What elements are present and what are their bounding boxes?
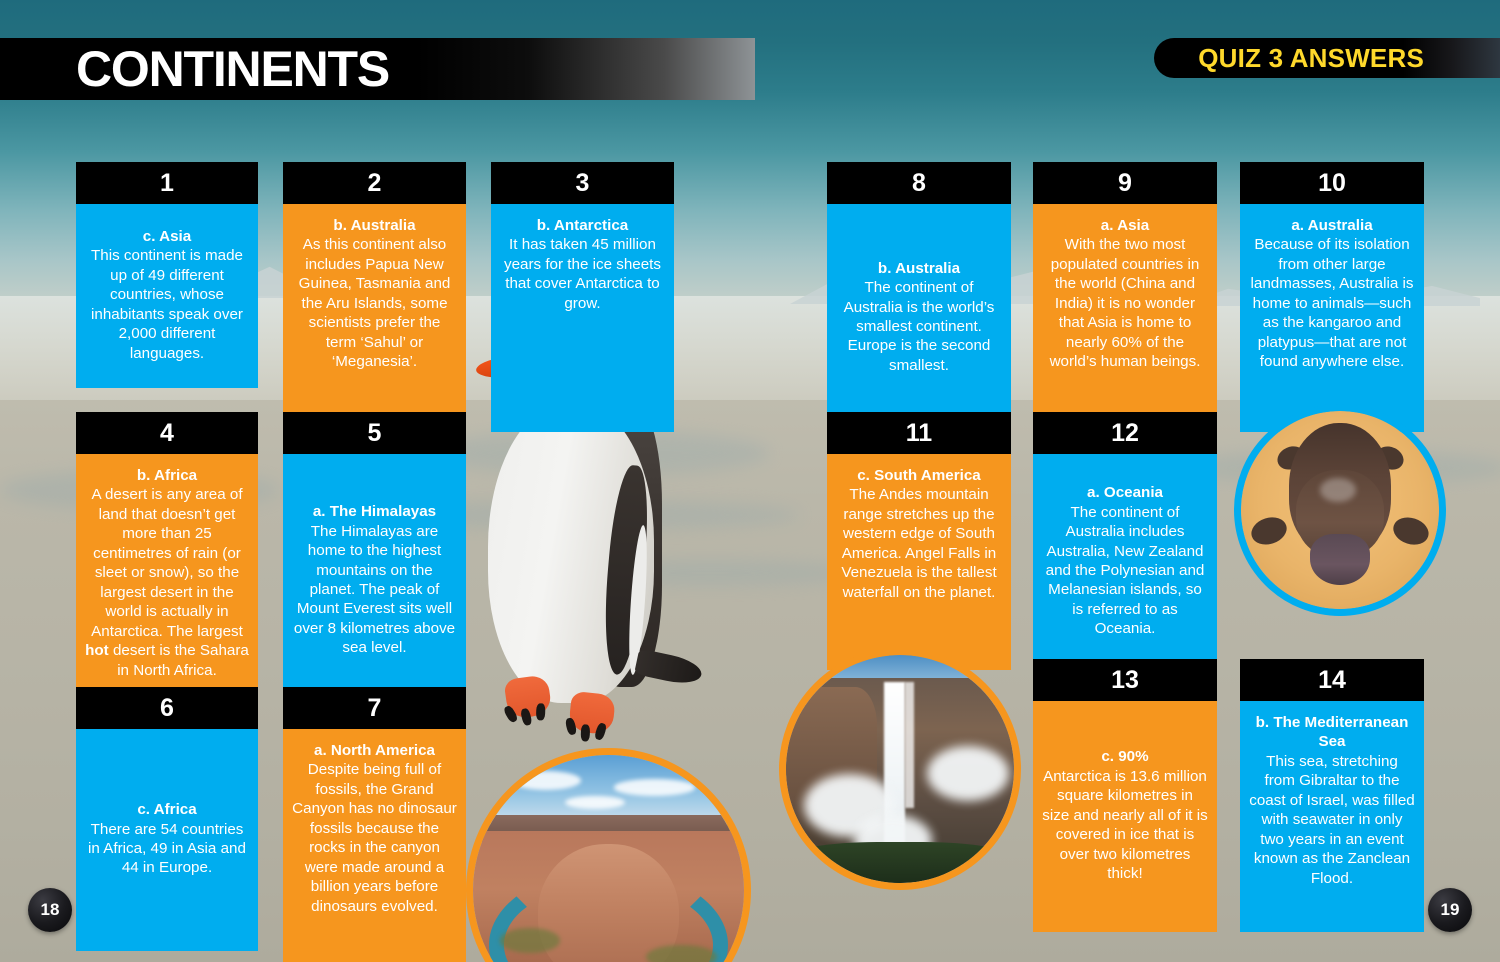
answer-card-body: c. Africa There are 54 countries in Afri… [76,729,258,951]
answer-detail: As this continent also includes Papua Ne… [292,235,457,371]
answer-detail: It has taken 45 million years for the ic… [500,235,665,313]
answer-card-number-badge: 3 [491,162,674,204]
answer-card-number-badge: 14 [1240,659,1424,701]
answer-label: b. Antarctica [500,216,665,235]
answer-label: b. Australia [292,216,457,235]
answer-card-number: 3 [576,171,590,196]
answer-card-number: 8 [912,171,926,196]
answer-card-5: 5 a. The Himalayas The Himalayas are hom… [283,412,466,708]
answer-label: a. Asia [1042,216,1208,235]
platypus-photo-inner [1241,411,1439,609]
answer-card-body: b. Australia The continent of Australia … [827,204,1011,432]
answer-card-number: 9 [1118,171,1132,196]
answer-card-7: 7 a. North America Despite being full of… [283,687,466,962]
answer-card-number-badge: 2 [283,162,466,204]
answer-card-body: a. Asia With the two most populated coun… [1033,204,1217,432]
answer-card-14: 14 b. The Mediterranean Sea This sea, st… [1240,659,1424,932]
answer-card-number-badge: 8 [827,162,1011,204]
answer-card-1: 1 c. Asia This continent is made up of 4… [76,162,258,388]
answer-label: a. The Himalayas [292,502,457,521]
answer-card-11: 11 c. South America The Andes mountain r… [827,412,1011,670]
answer-detail: Despite being full of fossils, the Grand… [292,760,457,916]
answer-card-number-badge: 1 [76,162,258,204]
answer-card-number-badge: 11 [827,412,1011,454]
answer-card-number: 13 [1111,668,1139,693]
answer-card-9: 9 a. Asia With the two most populated co… [1033,162,1217,432]
answer-label: b. Africa [85,466,249,485]
answer-card-number: 1 [160,171,174,196]
answer-card-body: a. Australia Because of its isolation fr… [1240,204,1424,432]
answer-label: a. Oceania [1042,483,1208,502]
answer-card-10: 10 a. Australia Because of its isolation… [1240,162,1424,432]
answer-card-number: 11 [906,421,932,446]
page-number-right-label: 19 [1441,900,1460,920]
answer-card-body: b. Australia As this continent also incl… [283,204,466,432]
answer-card-number-badge: 4 [76,412,258,454]
platypus-photo [1234,404,1446,616]
answer-detail: This continent is made up of 49 differen… [85,246,249,363]
angel-falls-waterfall-secondary [905,682,914,807]
page-number-left: 18 [28,888,72,932]
answer-label: c. South America [836,466,1002,485]
platypus-highlight [1320,478,1356,502]
quiz-answers-page: CONTINENTS QUIZ 3 ANSWERS 1 [0,0,1500,962]
horseshoe-bend-mesa [538,844,679,962]
answer-card-number-badge: 10 [1240,162,1424,204]
answer-label: b. Australia [836,259,1002,278]
answer-card-6: 6 c. Africa There are 54 countries in Af… [76,687,258,951]
answer-label: a. North America [292,741,457,760]
answer-card-number-badge: 13 [1033,659,1217,701]
answer-detail: There are 54 countries in Africa, 49 in … [85,820,249,878]
answer-card-body: c. 90% Antarctica is 13.6 million square… [1033,701,1217,932]
answer-card-number: 6 [160,696,174,721]
answer-card-body: a. North America Despite being full of f… [283,729,466,962]
angel-falls-photo-inner [786,655,1014,883]
penguin-tail [634,648,704,687]
answer-card-body: b. Antarctica It has taken 45 million ye… [491,204,674,432]
answer-detail: The continent of Australia is the world’… [836,278,1002,375]
answer-detail: The Himalayas are home to the highest mo… [292,522,457,658]
answer-card-2: 2 b. Australia As this continent also in… [283,162,466,432]
answer-card-number-badge: 7 [283,687,466,729]
answer-card-number: 12 [1111,421,1139,446]
vegetation [500,928,560,952]
answer-card-body: a. The Himalayas The Himalayas are home … [283,454,466,708]
answer-detail: With the two most populated countries in… [1042,235,1208,371]
answer-card-3: 3 b. Antarctica It has taken 45 million … [491,162,674,432]
answer-detail: A desert is any area of land that doesn’… [85,485,249,680]
answer-card-12: 12 a. Oceania The continent of Australia… [1033,412,1217,670]
cloud [614,779,695,795]
answer-card-number: 5 [368,421,382,446]
answer-card-number: 2 [368,171,382,196]
answer-card-8: 8 b. Australia The continent of Australi… [827,162,1011,432]
answer-card-4: 4 b. Africa A desert is any area of land… [76,412,258,708]
answer-label: c. Africa [85,800,249,819]
page-number-right: 19 [1428,888,1472,932]
answer-detail: This sea, stretching from Gibraltar to t… [1249,752,1415,888]
penguin-foot [568,691,616,735]
answer-card-number: 4 [160,421,174,446]
quiz-answers-badge-label: QUIZ 3 ANSWERS [1198,43,1424,74]
answer-card-number: 14 [1318,668,1346,693]
answer-detail: The continent of Australia includes Aust… [1042,503,1208,639]
page-title: CONTINENTS [0,44,389,94]
answer-card-body: a. Oceania The continent of Australia in… [1033,454,1217,670]
answer-card-number-badge: 5 [283,412,466,454]
answer-detail: Antarctica is 13.6 million square kilome… [1042,767,1208,884]
answer-detail-emphasis: hot [85,642,109,659]
answer-detail: Because of its isolation from other larg… [1249,235,1415,371]
horseshoe-bend-photo-inner [473,755,744,962]
angel-falls-vegetation [786,842,1014,883]
answer-label: b. The Mediterranean Sea [1249,713,1415,752]
platypus-bill [1310,534,1369,585]
angel-falls-photo [779,648,1021,890]
answer-label: c. 90% [1042,747,1208,766]
answer-label: a. Australia [1249,216,1415,235]
quiz-answers-badge: QUIZ 3 ANSWERS [1154,38,1500,78]
answer-card-13: 13 c. 90% Antarctica is 13.6 million squ… [1033,659,1217,932]
page-title-bar: CONTINENTS [0,38,755,100]
answer-card-body: b. Africa A desert is any area of land t… [76,454,258,708]
answer-card-body: c. Asia This continent is made up of 49 … [76,204,258,388]
horseshoe-bend-photo [466,748,751,962]
answer-card-number: 10 [1318,171,1346,196]
answer-card-number-badge: 12 [1033,412,1217,454]
answer-card-number: 7 [368,696,382,721]
page-number-left-label: 18 [41,900,60,920]
answer-label: c. Asia [85,227,249,246]
answer-card-number-badge: 9 [1033,162,1217,204]
cloud [565,796,625,810]
penguin-foot [503,674,552,720]
angel-falls-mist [927,746,1009,801]
answer-card-body: b. The Mediterranean Sea This sea, stret… [1240,701,1424,932]
answer-card-number-badge: 6 [76,687,258,729]
answer-detail: The Andes mountain range stretches up th… [836,485,1002,602]
answer-card-body: c. South America The Andes mountain rang… [827,454,1011,670]
